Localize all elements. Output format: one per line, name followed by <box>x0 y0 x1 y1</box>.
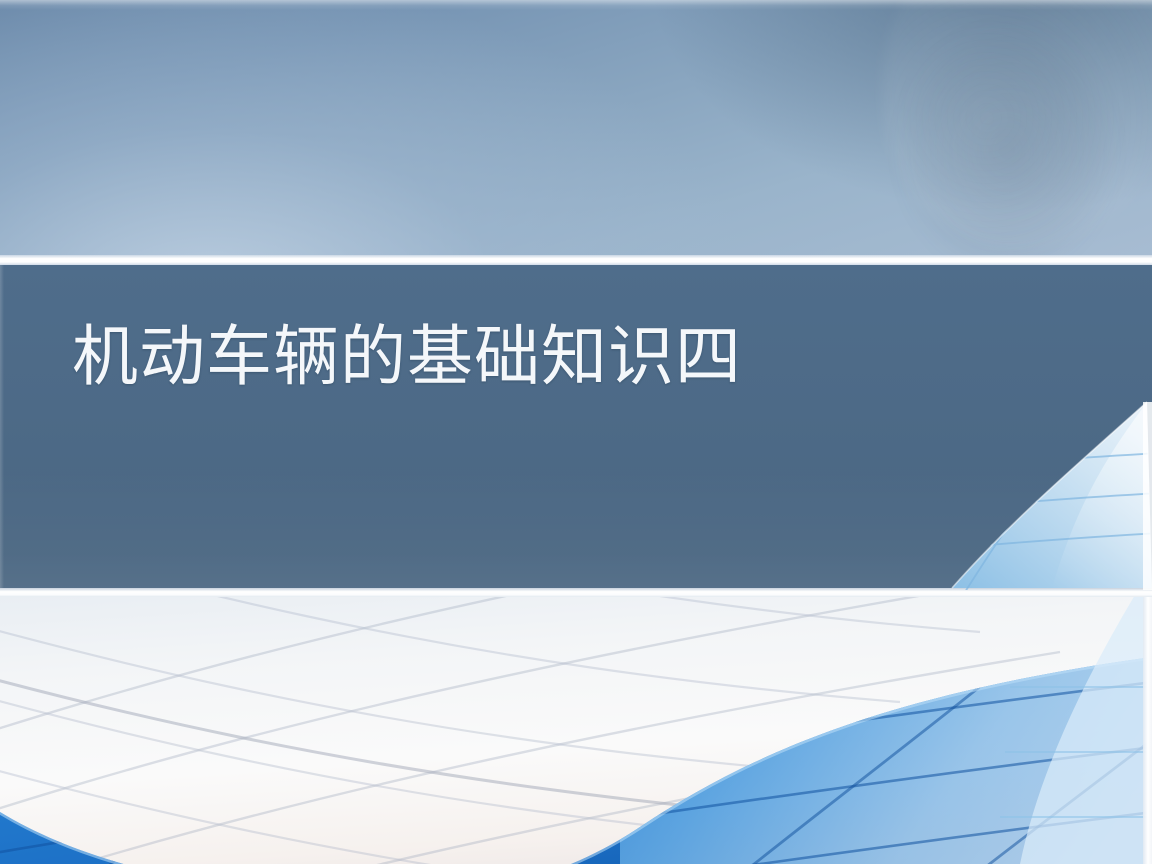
divider-bottom <box>0 588 1152 597</box>
sky-gradient-panel <box>0 0 1152 258</box>
divider-top <box>0 255 1152 265</box>
right-edge-strip <box>1143 597 1152 864</box>
title-slide: 机动车辆的基础知识四 <box>0 0 1152 864</box>
artwork-panel <box>0 597 1152 864</box>
title-band <box>0 265 1152 588</box>
page-title: 机动车辆的基础知识四 <box>72 322 742 393</box>
title-band-gloss <box>0 468 1152 588</box>
curved-mesh-wave-artwork <box>0 597 1152 864</box>
